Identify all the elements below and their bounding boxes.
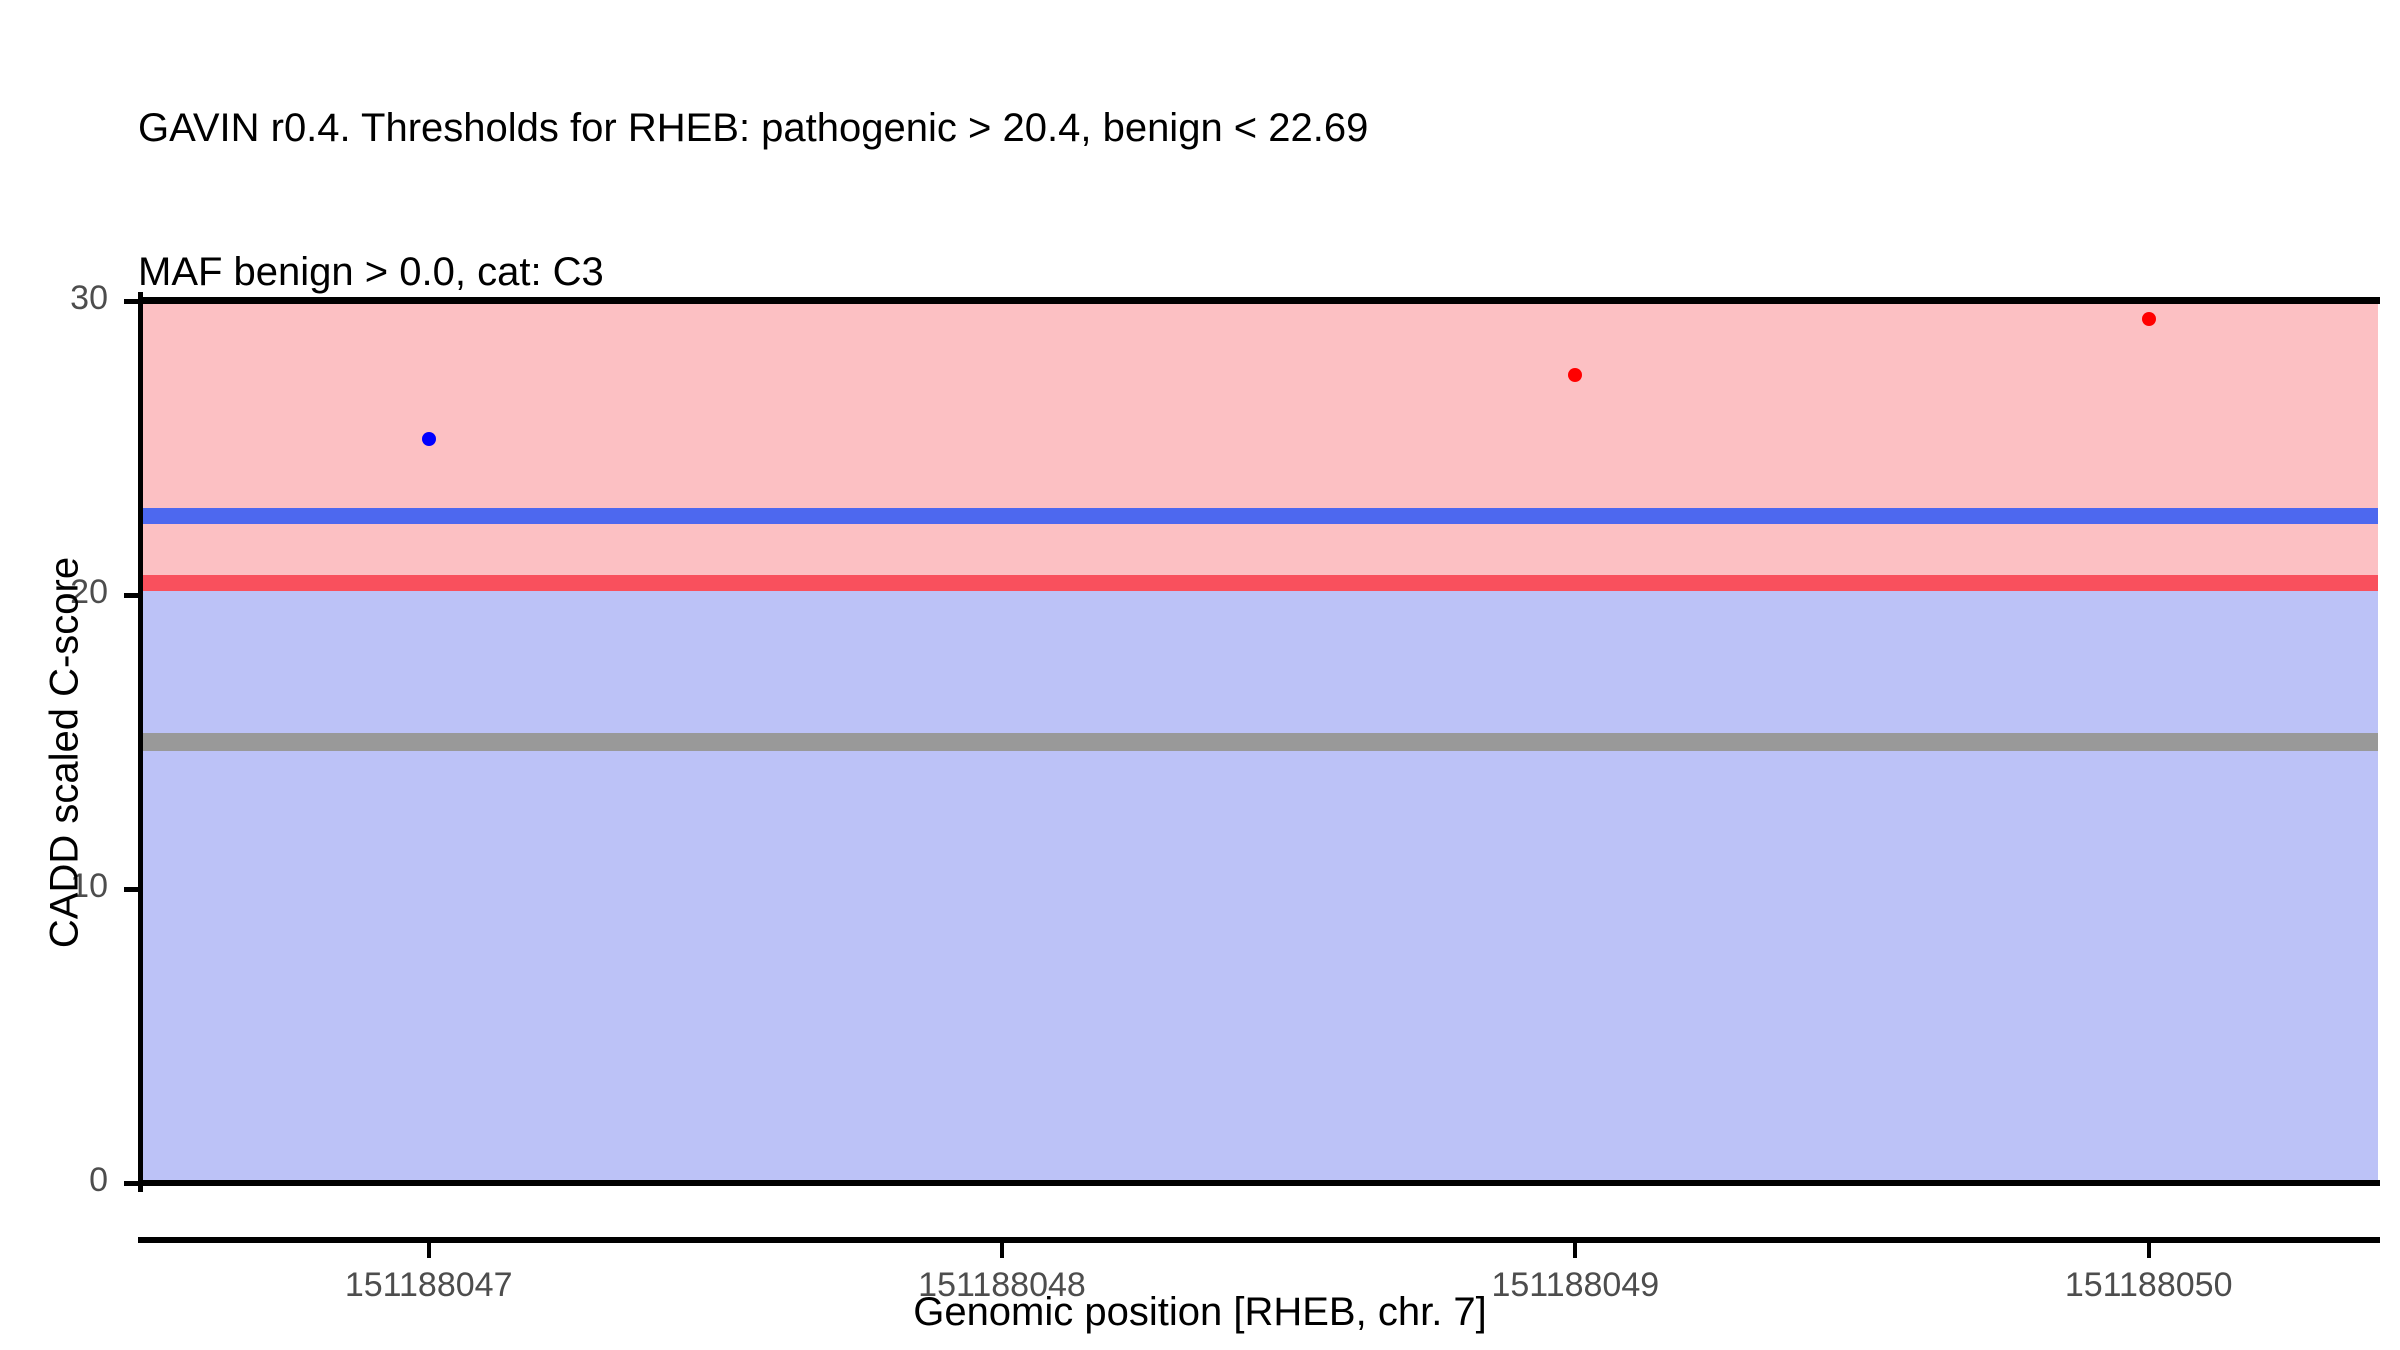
- x-tick: [1573, 1243, 1577, 1258]
- plot-panel: [142, 301, 2378, 1183]
- x-axis-title: Genomic position [RHEB, chr. 7]: [0, 1290, 2400, 1335]
- y-axis-line: [138, 292, 143, 1192]
- panel-top-line: [140, 297, 2380, 304]
- pathogenic-region: [142, 301, 2378, 583]
- y-tick: [124, 887, 140, 892]
- y-tick: [124, 593, 140, 598]
- y-tick: [124, 299, 140, 304]
- data-point[interactable]: [2142, 312, 2156, 326]
- x-tick: [1000, 1243, 1004, 1258]
- pathogenic-threshold-line: [142, 575, 2378, 591]
- benign-threshold-line: [142, 508, 2378, 524]
- title-line-2: MAF benign > 0.0, cat: C3: [138, 248, 2338, 296]
- title-line-1: GAVIN r0.4. Thresholds for RHEB: pathoge…: [138, 104, 2338, 152]
- fallback-threshold-line: [142, 733, 2378, 751]
- panel-bottom-line: [140, 1180, 2380, 1186]
- data-point[interactable]: [1568, 368, 1582, 382]
- data-point[interactable]: [422, 432, 436, 446]
- y-tick: [124, 1181, 140, 1186]
- y-axis-title: CADD scaled C-score: [43, 303, 88, 1203]
- x-tick: [2147, 1243, 2151, 1258]
- benign-region: [142, 583, 2378, 1183]
- x-axis-line: [138, 1237, 2380, 1243]
- x-tick: [427, 1243, 431, 1258]
